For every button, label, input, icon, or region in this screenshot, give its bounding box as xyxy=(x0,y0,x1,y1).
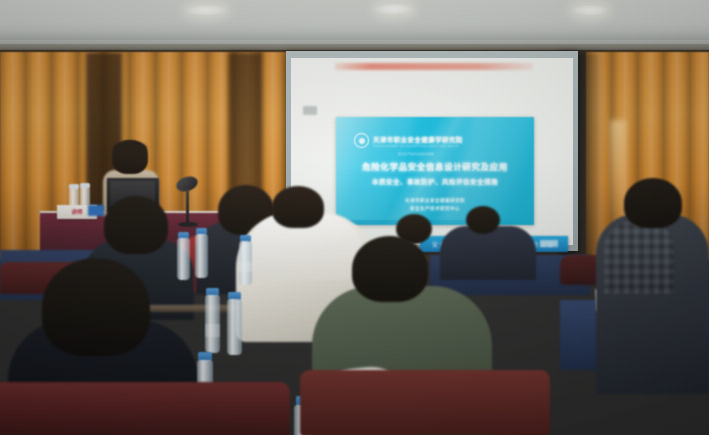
ticker-indicator-icon xyxy=(540,240,558,247)
curtain-fold-shadow xyxy=(228,52,262,202)
slide-footer-line-1: 天津市职业安全健康研究院 xyxy=(405,198,465,204)
slide-title: 危险化学品安全信息设计研究及应用 xyxy=(336,161,534,173)
slide-subtitle: 本质安全、事故防护、风险评估安全措施 xyxy=(336,176,534,186)
downlight-icon xyxy=(572,4,608,16)
slide-footer: 天津市职业安全健康研究院 安全生产技术研究中心 xyxy=(336,198,534,212)
attendee-right-head xyxy=(624,178,682,228)
screen-corner-mark-icon xyxy=(303,106,317,115)
conference-room-photo: 天津市职业安全健康学研究院 TIANJIN ACADEMY OF OCCUPAT… xyxy=(0,0,709,435)
slide-bottom-bar xyxy=(336,220,534,225)
microphone-base xyxy=(178,222,198,227)
chair-back-foreground xyxy=(0,382,290,435)
attendee-back-row-body xyxy=(440,226,536,280)
slide-organization-cn: 天津市职业安全健康学研究院 xyxy=(373,134,463,144)
attendee-right-plaid-pattern xyxy=(604,222,674,294)
ceiling-soffit xyxy=(0,31,709,40)
slide-organization-header: 天津市职业安全健康学研究院 TIANJIN ACADEMY OF OCCUPAT… xyxy=(354,133,463,148)
downlight-icon xyxy=(375,3,413,15)
water-bottle-cap-icon xyxy=(69,184,79,189)
attendee-olive-jacket-head xyxy=(352,236,428,302)
water-bottle-cap-icon xyxy=(80,183,90,188)
attendee-white-hoodie-head xyxy=(272,186,324,228)
placard-text: 讲师 xyxy=(59,208,95,216)
microphone-stand xyxy=(186,190,189,226)
chair-back-foreground xyxy=(300,370,550,435)
screen-header-strip xyxy=(335,63,533,70)
presenter-hair xyxy=(113,141,147,156)
safety-emblem-icon xyxy=(354,133,369,148)
slide-organization-en: TIANJIN ACADEMY OF OCCUPATIONAL SAFETY A… xyxy=(373,145,463,148)
slide-footer-line-2: 安全生产技术研究中心 xyxy=(410,206,460,212)
attendee-back-row-head xyxy=(466,206,500,234)
attendee-foreground-head xyxy=(42,258,150,356)
attendee-second-row-head xyxy=(104,196,168,254)
downlight-icon xyxy=(185,4,227,16)
slide-eyebrow: 安全生产技术培训系列课程 xyxy=(398,152,434,156)
presentation-slide: 天津市职业安全健康学研究院 TIANJIN ACADEMY OF OCCUPAT… xyxy=(336,117,534,225)
